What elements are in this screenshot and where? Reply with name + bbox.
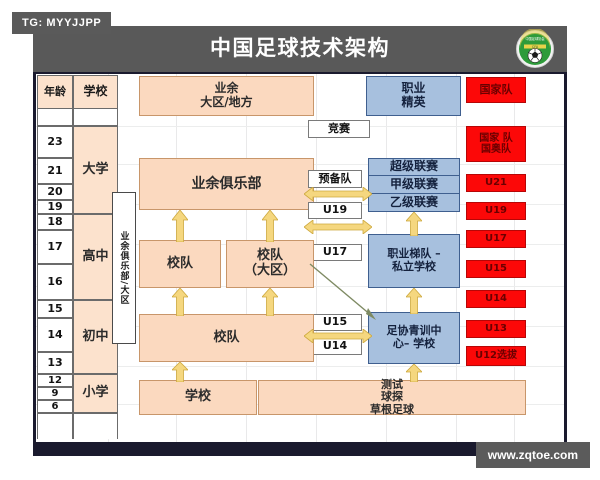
- national-team-box: U17: [466, 230, 526, 248]
- age-cell: 14: [37, 318, 73, 352]
- age-cell: 12: [37, 374, 73, 387]
- age-cell: 18: [37, 214, 73, 230]
- column-header-amateur: 业余 大区/地方: [139, 76, 314, 116]
- age-cell: 16: [37, 264, 73, 300]
- tg-watermark-badge: TG: MYYJJPP: [12, 12, 111, 34]
- school-team-box: 校队: [139, 240, 221, 288]
- cfa-crest-icon: 中国足球协会 CFA: [515, 29, 555, 69]
- tg-badge-label: TG: MYYJJPP: [22, 17, 101, 29]
- site-watermark: www.zqtoe.com: [476, 442, 590, 468]
- national-team-box: 国家 队 国奥队: [466, 126, 526, 162]
- arrow-up-icon: [406, 364, 422, 382]
- vertical-axis-label-text: 业余俱乐部/大区: [118, 231, 131, 305]
- arrow-up-icon: [172, 288, 188, 316]
- svg-text:中国足球协会: 中国足球协会: [525, 36, 545, 41]
- national-team-box: 国家队: [466, 77, 526, 103]
- national-team-box: U12选拔: [466, 346, 526, 366]
- site-watermark-text: www.zqtoe.com: [488, 448, 578, 462]
- school-team-region-box: 校队 （大区）: [226, 240, 314, 288]
- national-team-box: U19: [466, 202, 526, 220]
- vertical-axis-label-amateur: 业余俱乐部/大区: [112, 192, 136, 344]
- second-league-box: 乙级联赛: [368, 194, 460, 212]
- u17-box: U17: [308, 244, 362, 261]
- amateur-club-box: 业余俱乐部: [139, 158, 314, 210]
- arrow-up-icon: [172, 362, 188, 382]
- age-cell: 19: [37, 200, 73, 214]
- school-team-wide-box: 校队: [139, 314, 314, 362]
- national-team-box: U15: [466, 260, 526, 278]
- column-header-professional: 职业 精英: [366, 76, 461, 116]
- national-team-box: U21: [466, 174, 526, 192]
- cfa-youth-center-box: 足协青训中 心– 学校: [368, 312, 460, 364]
- slide-frame: 中国足球技术架构 中国足球协会 CFA: [33, 26, 567, 456]
- super-league-box: 超级联赛: [368, 158, 460, 176]
- age-cell: 20: [37, 184, 73, 200]
- age-cell: 6: [37, 400, 73, 413]
- arrow-left-right-icon: [304, 220, 372, 234]
- age-cell: 9: [37, 387, 73, 400]
- school-box: 学校: [139, 380, 257, 415]
- age-cell-blank: [37, 413, 73, 439]
- arrow-up-icon: [406, 212, 422, 236]
- arrow-up-icon: [262, 210, 278, 242]
- age-cell: 21: [37, 158, 73, 184]
- age-cell-blank: [37, 109, 73, 126]
- arrow-up-icon: [406, 288, 422, 314]
- arrow-left-right-icon: [304, 329, 372, 343]
- arrow-up-icon: [262, 288, 278, 316]
- age-cell: 15: [37, 300, 73, 318]
- diagonal-connector-line: [308, 262, 378, 329]
- competition-header: 竞赛: [308, 120, 370, 138]
- national-team-box: U14: [466, 290, 526, 308]
- first-league-box: 甲级联赛: [368, 176, 460, 194]
- age-cell: 17: [37, 230, 73, 264]
- slide-title-bar: 中国足球技术架构 中国足球协会 CFA: [33, 26, 567, 72]
- reserve-team-box: 预备队: [308, 170, 362, 188]
- diagram-sheet: 年龄 学校 23 21 20 19 18 17 16 15 14 13 12 9…: [36, 74, 564, 442]
- age-cell: 23: [37, 126, 73, 158]
- arrow-left-right-icon: [304, 187, 372, 201]
- arrow-up-icon: [172, 210, 188, 242]
- school-cell-primaryschool: 小学: [73, 374, 118, 413]
- age-cell: 13: [37, 352, 73, 374]
- school-cell-blank: [73, 413, 118, 439]
- grassroots-box: 测试 球探 草根足球: [258, 380, 526, 415]
- header-school: 学校: [73, 75, 118, 109]
- slide-title: 中国足球技术架构: [33, 26, 567, 72]
- u19-box: U19: [308, 202, 362, 219]
- professional-youth-team-box: 职业梯队 – 私立学校: [368, 234, 460, 288]
- school-cell-blank: [73, 109, 118, 126]
- national-team-box: U13: [466, 320, 526, 338]
- header-age: 年龄: [37, 75, 73, 109]
